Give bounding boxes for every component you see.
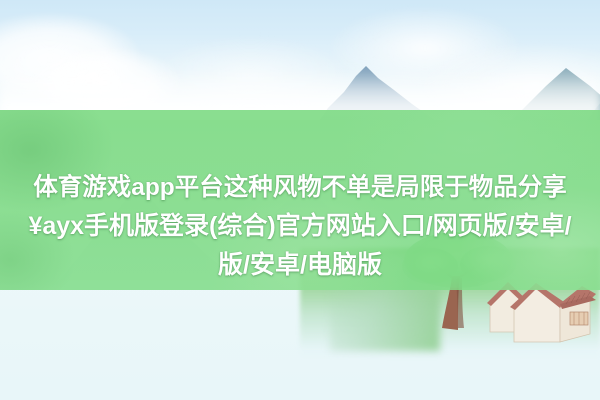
caption-line-1: 体育游戏app平台这种风物不单是局限于物品分享 bbox=[33, 168, 567, 207]
caption-line-2: ¥ayx手机版登录(综合)官方网站入口/网页版/安卓/ bbox=[28, 207, 571, 246]
promo-image-canvas: 体育游戏app平台这种风物不单是局限于物品分享 ¥ayx手机版登录(综合)官方网… bbox=[0, 0, 600, 400]
caption-line-3: 版/安卓/电脑版 bbox=[218, 246, 382, 285]
caption-block: 体育游戏app平台这种风物不单是局限于物品分享 ¥ayx手机版登录(综合)官方网… bbox=[0, 110, 600, 290]
